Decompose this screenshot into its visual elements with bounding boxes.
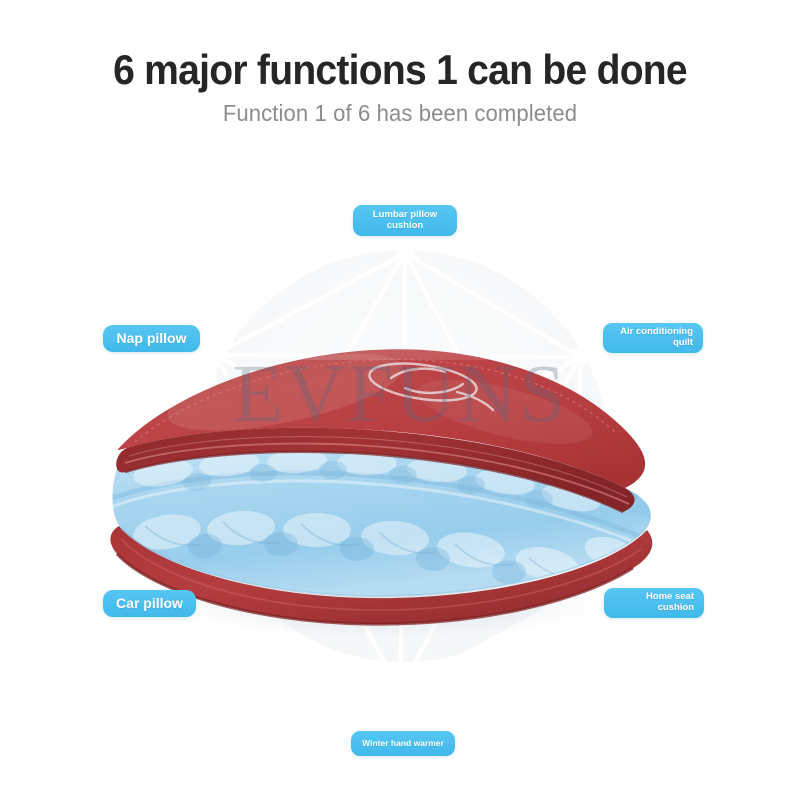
watermark-text: EVFUNS [0, 352, 800, 435]
badge-line-1: Lumbar pillow [373, 210, 437, 221]
badge-line-2: quilt [620, 338, 693, 349]
badge-line-2: cushion [373, 221, 437, 232]
badge-air-conditioning-quilt[interactable]: Air conditioning quilt [603, 323, 703, 353]
network-node-dots [204, 244, 591, 699]
badge-label: Home seat cushion [646, 592, 694, 613]
badge-label: Car pillow [113, 596, 186, 612]
badge-label: Winter hand warmer [361, 739, 445, 749]
badge-label: Air conditioning quilt [620, 327, 693, 348]
badge-label: Nap pillow [113, 331, 190, 347]
badge-home-seat-cushion[interactable]: Home seat cushion [604, 588, 704, 618]
decor-circle [198, 250, 610, 662]
badge-car-pillow[interactable]: Car pillow [103, 590, 196, 617]
badge-nap-pillow[interactable]: Nap pillow [103, 325, 200, 352]
badge-line-2: cushion [646, 603, 694, 614]
badge-lumbar-pillow-cushion[interactable]: Lumbar pillow cushion [353, 205, 457, 236]
page-title: 6 major functions 1 can be done [28, 47, 772, 92]
infographic-page: EVFUNS 6 major functions 1 can be done F… [0, 0, 800, 800]
badge-label: Lumbar pillow cushion [373, 210, 437, 231]
badge-winter-hand-warmer[interactable]: Winter hand warmer [351, 731, 455, 756]
embossed-logo-icon [367, 358, 493, 410]
page-subtitle: Function 1 of 6 has been completed [16, 99, 784, 128]
